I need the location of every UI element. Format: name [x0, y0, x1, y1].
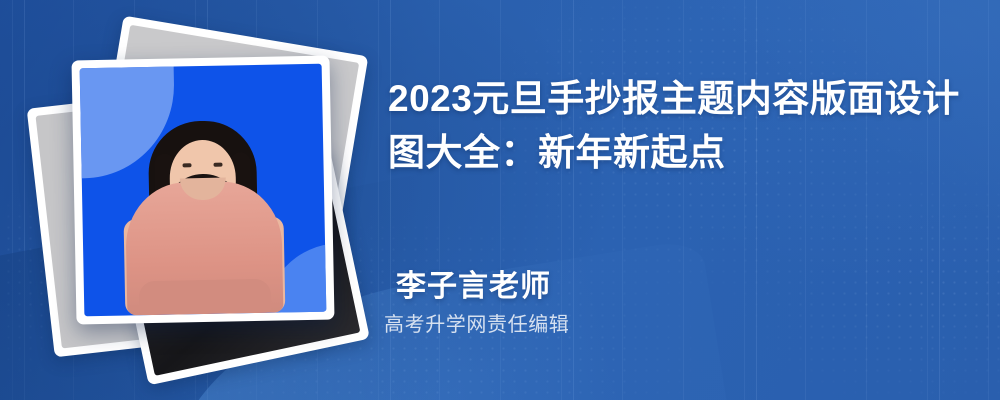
author-photo	[80, 64, 327, 317]
article-cover: 2023元旦手抄报主题内容版面设计图大全：新年新起点 李子言老师 高考升学网责任…	[0, 0, 1000, 400]
portrait-waist	[139, 279, 272, 316]
author-role: 高考升学网责任编辑	[384, 312, 956, 338]
portrait-icon	[80, 98, 326, 316]
author-photo-card	[71, 56, 334, 325]
photo-stack	[40, 28, 352, 374]
portrait-eye-left	[182, 163, 191, 167]
page-title: 2023元旦手抄报主题内容版面设计图大全：新年新起点	[388, 72, 968, 180]
author-name: 李子言老师	[396, 268, 956, 306]
byline: 李子言老师 高考升学网责任编辑	[396, 268, 956, 338]
cover-text-block: 2023元旦手抄报主题内容版面设计图大全：新年新起点 李子言老师 高考升学网责任…	[388, 0, 988, 400]
portrait-eye-right	[213, 162, 222, 166]
